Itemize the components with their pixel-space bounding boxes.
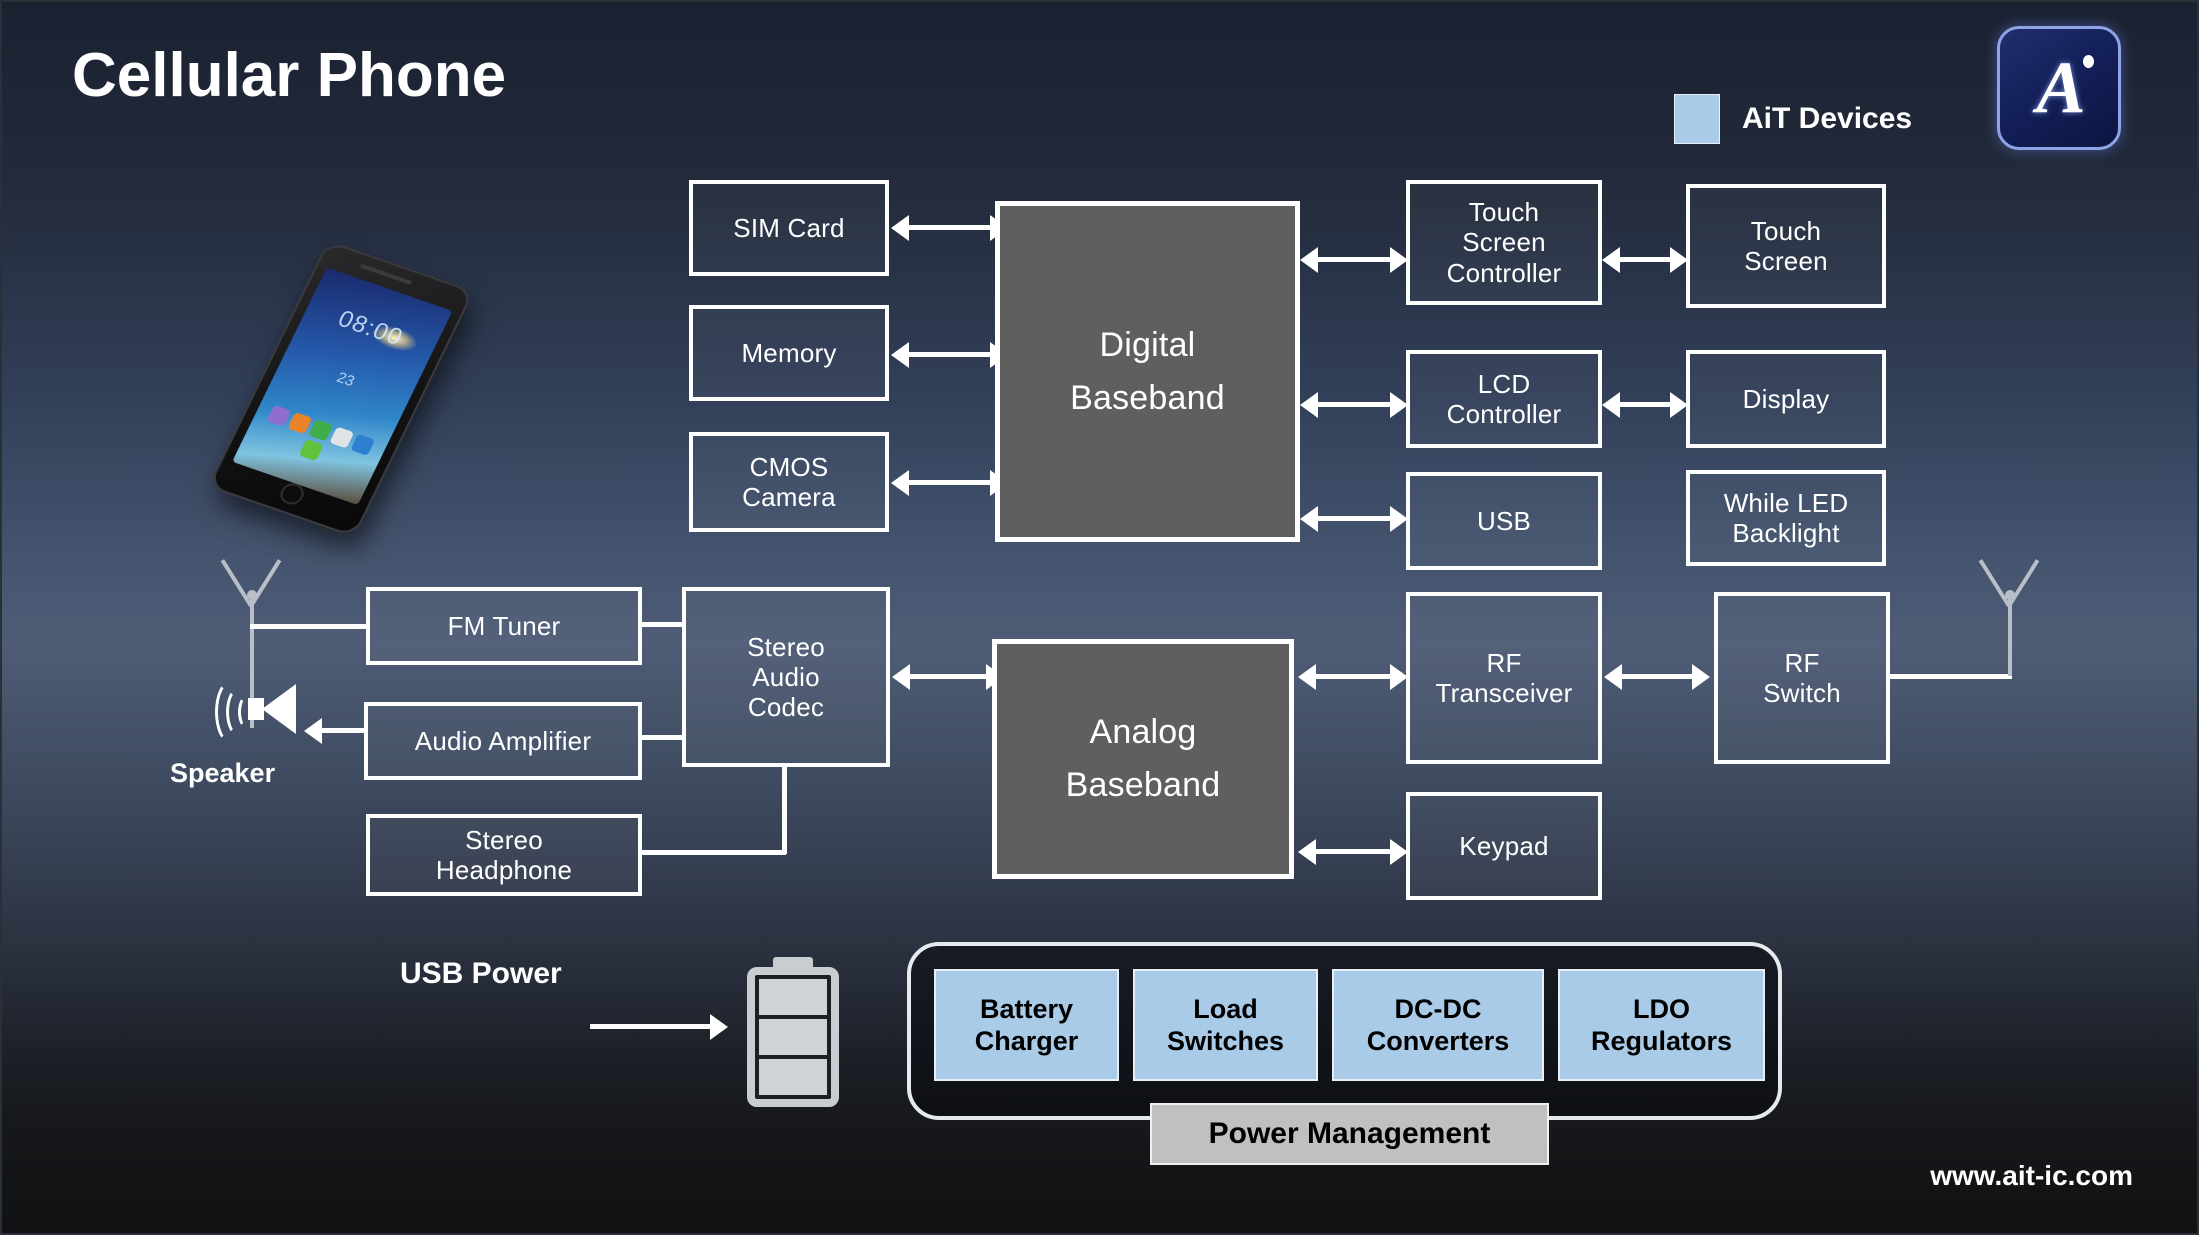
block-keypad[interactable]: Keypad <box>1406 792 1602 900</box>
pm-chip-load-switches[interactable]: Load Switches <box>1133 969 1318 1081</box>
phone-photo: 08:00 23 <box>208 241 475 538</box>
arrowhead-left-icon <box>1602 247 1620 273</box>
antenna-arm-left-icon <box>221 559 253 607</box>
connector-dbb-tsc <box>1316 257 1392 262</box>
connector-lcd-display <box>1618 402 1672 407</box>
block-touch-screen-controller[interactable]: Touch Screen Controller <box>1406 180 1602 305</box>
arrowhead-right-icon <box>1390 247 1408 273</box>
connector-memory-dbb <box>907 352 993 357</box>
antenna-arm-right-icon <box>249 559 281 607</box>
block-digital-baseband[interactable]: Digital Baseband <box>995 201 1300 542</box>
app-icon <box>308 419 333 441</box>
legend-swatch-icon <box>1674 94 1720 144</box>
arrowhead-left-icon <box>1298 839 1316 865</box>
ait-logo-dot-icon <box>2083 55 2094 68</box>
arrowhead-right-icon <box>1670 247 1688 273</box>
connector-codec-headphone-v <box>782 764 787 854</box>
arrowhead-right-icon <box>1390 392 1408 418</box>
app-icon <box>266 405 291 427</box>
connector-abb-keypad <box>1314 849 1392 854</box>
arrowhead-right-icon <box>1692 664 1710 690</box>
block-display[interactable]: Display <box>1686 350 1886 448</box>
arrowhead-left-icon <box>1602 392 1620 418</box>
phone-app-icons <box>250 403 382 478</box>
block-rf-switch[interactable]: RF Switch <box>1714 592 1890 764</box>
block-lcd-controller[interactable]: LCD Controller <box>1406 350 1602 448</box>
speaker-cone-icon <box>262 684 296 734</box>
slide-canvas: Cellular Phone AiT Devices A 08:00 23 SI… <box>0 0 2199 1235</box>
usb-power-label: USB Power <box>400 957 562 991</box>
block-rf-transceiver[interactable]: RF Transceiver <box>1406 592 1602 764</box>
arrowhead-left-icon <box>1300 247 1318 273</box>
block-sim-card[interactable]: SIM Card <box>689 180 889 276</box>
arrowhead-left-icon <box>1298 664 1316 690</box>
page-title: Cellular Phone <box>72 40 506 111</box>
connector-codec-headphone-h <box>638 850 786 855</box>
pm-chip-battery-charger[interactable]: Battery Charger <box>934 969 1119 1081</box>
battery-icon <box>747 957 839 1107</box>
phone-date: 23 <box>279 350 412 409</box>
phone-screen: 08:00 23 <box>232 268 452 505</box>
block-cmos-camera[interactable]: CMOS Camera <box>689 432 889 532</box>
legend: AiT Devices <box>1674 94 1912 144</box>
battery-segment-icon <box>759 979 827 1015</box>
legend-label: AiT Devices <box>1742 102 1912 136</box>
connector-fmtuner-codec <box>638 622 686 627</box>
phone-clock: 08:00 <box>301 295 439 363</box>
connector-camera-dbb <box>907 480 993 485</box>
arrowhead-left-icon <box>304 718 322 744</box>
arrowhead-left-icon <box>892 664 910 690</box>
arrowhead-right-icon <box>1670 392 1688 418</box>
footer-url[interactable]: www.ait-ic.com <box>1930 1160 2133 1192</box>
connector-amp-speaker <box>320 728 364 733</box>
power-management-label: Power Management <box>1150 1103 1549 1165</box>
block-memory[interactable]: Memory <box>689 305 889 401</box>
antenna-mast-icon <box>2008 598 2012 676</box>
connector-tsc-touchscreen <box>1618 257 1672 262</box>
speaker-wave-icon <box>215 680 247 744</box>
connector-amp-codec <box>638 735 686 740</box>
battery-segment-icon <box>759 1059 827 1095</box>
speaker-label: Speaker <box>170 758 275 789</box>
pm-chip-ldo-regulators[interactable]: LDO Regulators <box>1558 969 1765 1081</box>
arrowhead-left-icon <box>1604 664 1622 690</box>
block-fm-tuner[interactable]: FM Tuner <box>366 587 642 665</box>
arrowhead-left-icon <box>891 342 909 368</box>
block-analog-baseband[interactable]: Analog Baseband <box>992 639 1294 879</box>
connector-usbpower-battery <box>590 1024 712 1029</box>
arrowhead-left-icon <box>1300 392 1318 418</box>
connector-rfsw-antenna <box>1890 674 2012 679</box>
speaker-icon <box>212 674 298 744</box>
block-stereo-headphone[interactable]: Stereo Headphone <box>366 814 642 896</box>
arrowhead-left-icon <box>1300 506 1318 532</box>
arrowhead-right-icon <box>1390 506 1408 532</box>
connector-dbb-usb <box>1316 516 1392 521</box>
connector-abb-rf <box>1314 674 1392 679</box>
connector-dbb-lcd <box>1316 402 1392 407</box>
block-audio-amplifier[interactable]: Audio Amplifier <box>364 702 642 780</box>
ait-logo-glyph: A <box>2000 29 2118 147</box>
pm-chip-dcdc-converters[interactable]: DC-DC Converters <box>1332 969 1544 1081</box>
antenna-arm-left-icon <box>1979 559 2011 607</box>
connector-codec-abb <box>910 674 988 679</box>
arrowhead-right-icon <box>710 1014 728 1040</box>
app-icon <box>329 427 354 449</box>
app-icon <box>350 434 375 456</box>
antenna-arm-right-icon <box>2007 559 2039 607</box>
battery-segment-icon <box>759 1019 827 1055</box>
arrowhead-left-icon <box>891 470 909 496</box>
ait-logo: A <box>1997 26 2121 150</box>
block-white-led-backlight[interactable]: While LED Backlight <box>1686 470 1886 566</box>
app-icon <box>287 412 312 434</box>
connector-sim-dbb <box>907 225 993 230</box>
app-icon <box>299 439 324 461</box>
block-touch-screen[interactable]: Touch Screen <box>1686 184 1886 308</box>
block-usb[interactable]: USB <box>1406 472 1602 570</box>
connector-rftx-rfsw <box>1620 674 1694 679</box>
connector-antenna-fmtuner <box>250 624 370 629</box>
block-stereo-audio-codec[interactable]: Stereo Audio Codec <box>682 587 890 767</box>
arrowhead-left-icon <box>891 215 909 241</box>
